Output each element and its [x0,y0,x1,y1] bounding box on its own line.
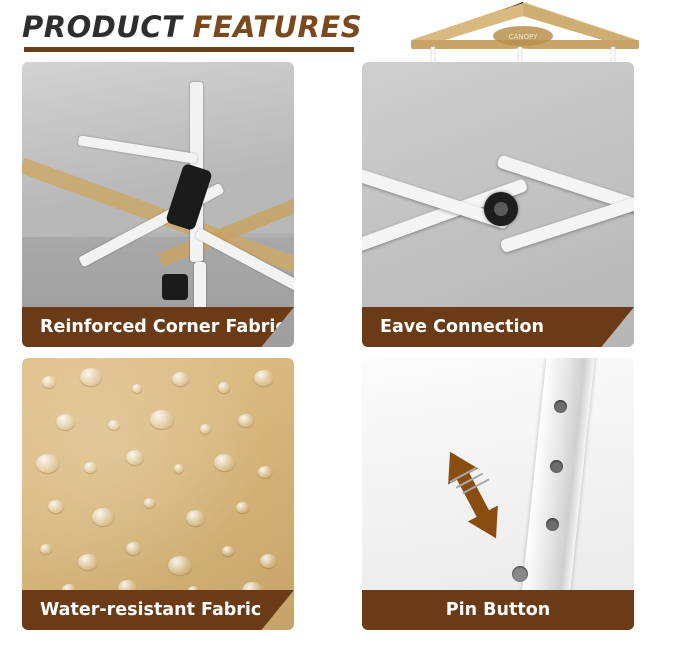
frame-clamp [162,274,188,300]
page-title: PRODUCT FEATURES [22,10,362,44]
caption-eave-connection: Eave Connection [362,307,634,347]
eave-connection-hub [484,192,518,226]
water-droplet [56,414,75,430]
water-droplet [214,454,235,471]
caption-reinforced-corner-fabric: Reinforced Corner Fabric [22,307,294,347]
water-droplet [186,510,205,526]
pin-hole [550,460,563,473]
water-droplet [36,454,59,473]
water-droplet [108,420,120,430]
feature-card-eave-connection: Eave Connection [362,62,634,347]
water-droplet [40,544,52,554]
canopy-leg-tube [521,358,596,610]
caption-text: Water-resistant Fabric [40,600,261,620]
water-droplet [168,556,192,575]
water-droplet [260,554,277,568]
caption-water-resistant-fabric: Water-resistant Fabric [22,590,294,630]
caption-text: Pin Button [446,600,550,620]
title-underline [24,47,354,52]
feature-image-eave-connection [362,62,634,347]
caption-pin-button: Pin Button [362,590,634,630]
water-droplet [254,370,274,386]
water-droplet [84,462,97,473]
water-droplet [144,498,155,508]
water-droplet [132,384,142,393]
water-droplet [78,554,98,570]
pin-button [512,566,528,582]
water-droplet [126,450,144,465]
pin-hole [554,400,567,413]
product-features-infographic: PRODUCT FEATURES CANOPY [0,0,679,646]
water-droplet [92,508,114,526]
water-droplet [200,424,211,434]
page-title-part2: FEATURES [192,10,362,44]
feature-card-water-resistant-fabric: Water-resistant Fabric [22,358,294,630]
water-droplet [126,542,141,555]
caption-text: Reinforced Corner Fabric [40,317,286,337]
canopy-illustration: CANOPY [405,0,645,70]
water-droplet [236,502,249,513]
water-droplet [150,410,174,429]
feature-image-water-resistant-fabric [22,358,294,630]
water-droplet [218,382,230,393]
caption-text: Eave Connection [380,317,544,337]
water-droplet [258,466,272,478]
feature-card-reinforced-corner-fabric: Reinforced Corner Fabric [22,62,294,347]
water-droplet [48,500,64,513]
svg-text:CANOPY: CANOPY [509,33,538,41]
water-droplet [174,464,184,473]
water-droplet [238,414,254,427]
water-droplet [80,368,102,386]
water-droplet [42,376,56,388]
feature-image-reinforced-corner-fabric [22,62,294,347]
pin-hole [546,518,559,531]
water-droplet [172,372,189,386]
water-droplet [222,546,234,556]
page-title-part1: PRODUCT [22,10,182,44]
feature-card-pin-button: Pin Button [362,358,634,630]
